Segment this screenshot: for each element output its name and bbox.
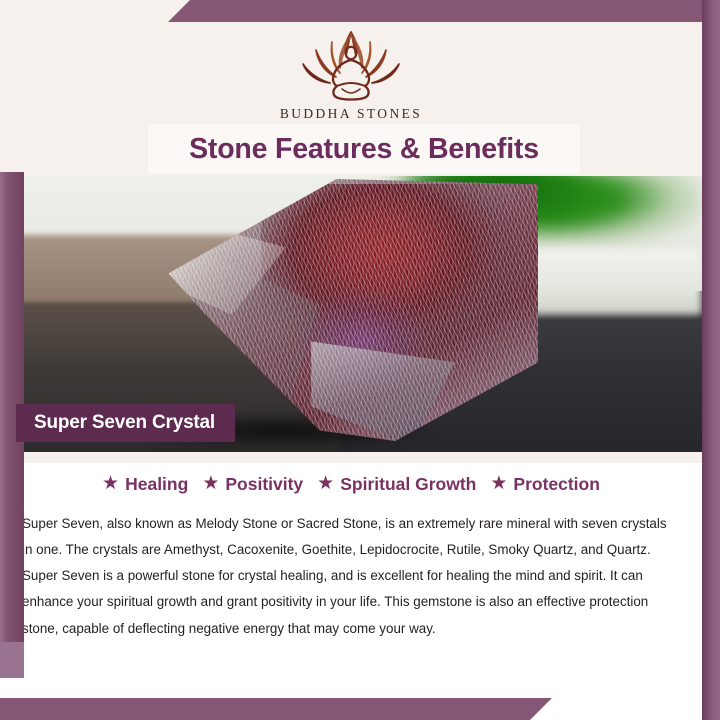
benefit-item-spiritual-growth: ★ Spiritual Growth (317, 474, 476, 495)
benefit-item-positivity: ★ Positivity (202, 474, 303, 495)
description-text: Super Seven, also known as Melody Stone … (22, 511, 680, 642)
title-strip: Stone Features & Benefits (148, 124, 580, 174)
star-icon: ★ (317, 474, 334, 493)
star-icon: ★ (202, 474, 219, 493)
brand-name: BUDDHA STONES (280, 106, 422, 122)
benefit-label: Protection (513, 474, 600, 495)
benefit-label: Healing (125, 474, 188, 495)
brand-logo: BUDDHA STONES (0, 26, 702, 122)
frame-left-foot (0, 642, 24, 678)
lotus-meditation-logo-icon (276, 26, 426, 104)
star-icon: ★ (490, 474, 507, 493)
frame-right-band (702, 0, 720, 720)
frame-bottom-band (0, 698, 720, 720)
header: BUDDHA STONES Stone Features & Benefits (0, 0, 702, 176)
benefit-item-healing: ★ Healing (102, 474, 188, 495)
content-area: ★ Healing ★ Positivity ★ Spiritual Growt… (0, 463, 702, 698)
page-title: Stone Features & Benefits (189, 133, 539, 166)
benefits-row: ★ Healing ★ Positivity ★ Spiritual Growt… (0, 474, 702, 495)
photo-caption-badge: Super Seven Crystal (16, 404, 235, 442)
divider-strip (0, 452, 702, 463)
photo-caption-text: Super Seven Crystal (34, 412, 215, 434)
infographic-page: BUDDHA STONES Stone Features & Benefits … (0, 0, 720, 720)
star-icon: ★ (102, 474, 119, 493)
benefit-label: Spiritual Growth (340, 474, 476, 495)
benefit-item-protection: ★ Protection (490, 474, 600, 495)
benefit-label: Positivity (225, 474, 303, 495)
